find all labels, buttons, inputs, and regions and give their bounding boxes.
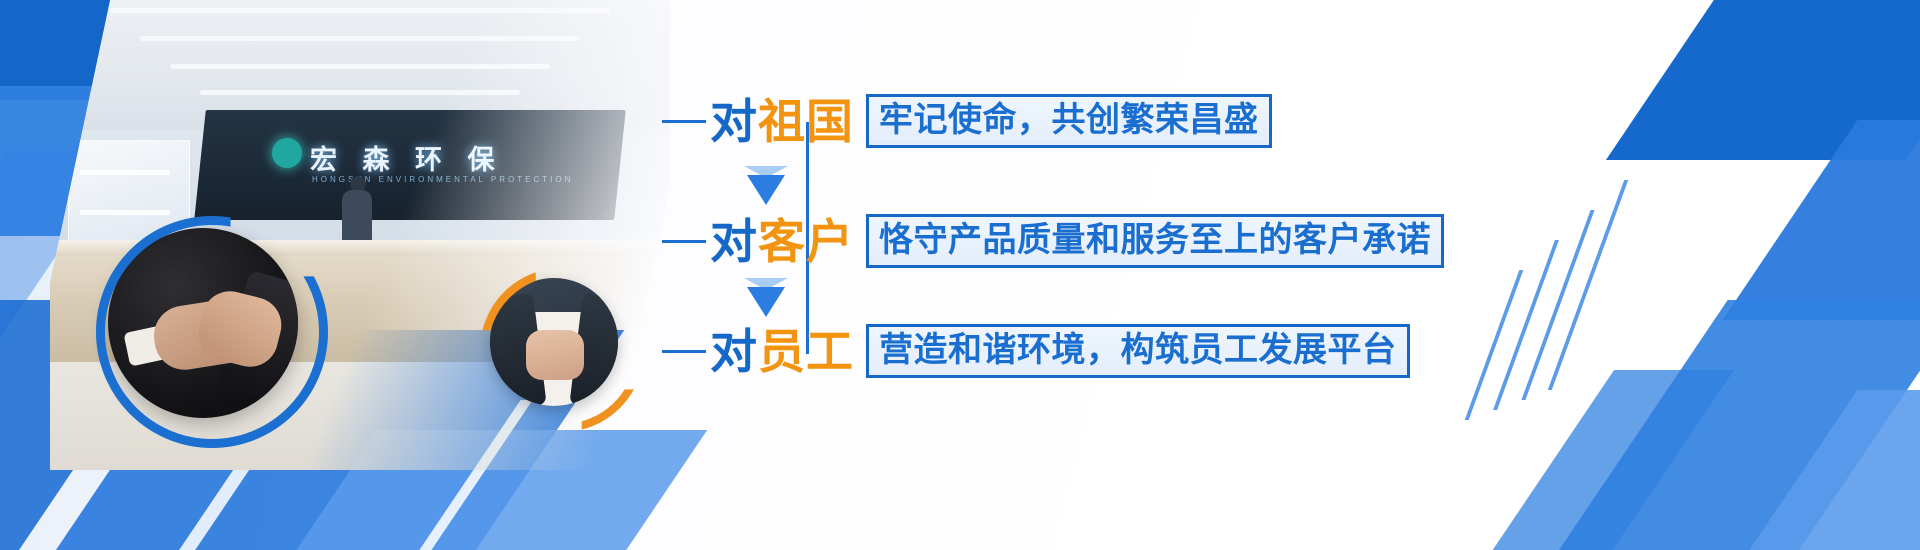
value-statement-employee: 营造和谐环境，构筑员工发展平台 bbox=[866, 324, 1410, 379]
value-row-customer: 对客户 恪守产品质量和服务至上的客户承诺 bbox=[662, 212, 1444, 270]
value-keyword-country: 祖国 bbox=[758, 98, 854, 145]
value-statement-country: 牢记使命，共创繁荣昌盛 bbox=[866, 94, 1272, 149]
value-keyword-employee: 员工 bbox=[758, 328, 854, 375]
connector-tick-1 bbox=[662, 120, 706, 123]
value-label-customer: 对客户 bbox=[710, 218, 854, 265]
values-content: 对祖国 牢记使命，共创繁荣昌盛 对客户 恪守产品质量和服务至上的客户承诺 对员工 bbox=[0, 0, 1920, 550]
down-arrow-icon-1 bbox=[744, 166, 788, 205]
value-prefix-customer: 对 bbox=[710, 218, 758, 265]
value-prefix-employee: 对 bbox=[710, 328, 758, 375]
connector-tick-2 bbox=[662, 240, 706, 243]
company-values-banner: 宏 森 环 保 HONGSEN ENVIRONMENTAL PROTECTION bbox=[0, 0, 1920, 550]
value-label-employee: 对员工 bbox=[710, 328, 854, 375]
value-prefix-country: 对 bbox=[710, 98, 758, 145]
value-row-employee: 对员工 营造和谐环境，构筑员工发展平台 bbox=[662, 322, 1410, 380]
value-label-country: 对祖国 bbox=[710, 98, 854, 145]
value-keyword-customer: 客户 bbox=[758, 218, 854, 265]
value-row-country: 对祖国 牢记使命，共创繁荣昌盛 bbox=[662, 92, 1272, 150]
value-statement-customer: 恪守产品质量和服务至上的客户承诺 bbox=[866, 214, 1444, 269]
connector-tick-3 bbox=[662, 350, 706, 353]
down-arrow-icon-2 bbox=[744, 278, 788, 317]
